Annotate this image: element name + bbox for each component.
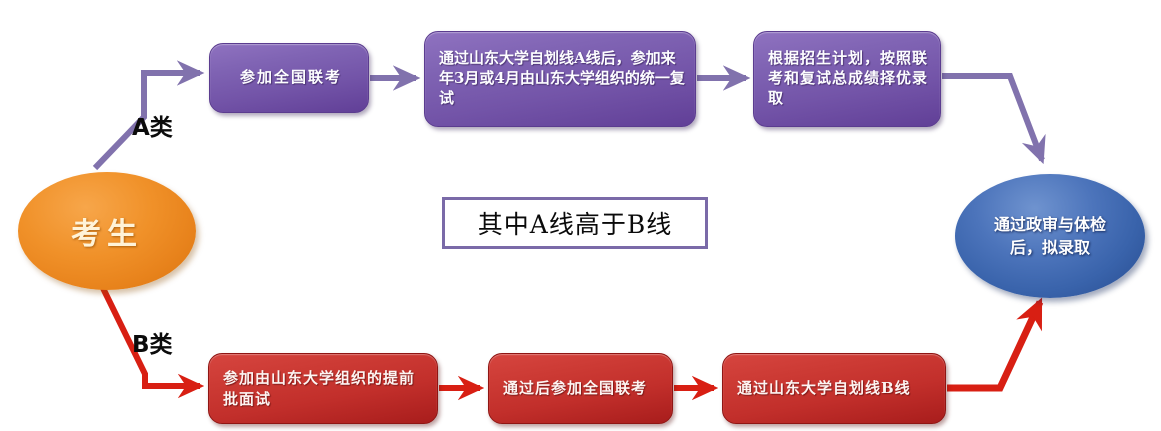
edge-a3-to-end [942, 76, 1042, 160]
node-a-step-2[interactable]: 通过山东大学自划线A线后，参加来年3月或4月由山东大学组织的统一复试 [424, 31, 696, 127]
edge-b3-to-end [947, 302, 1040, 388]
node-end-label: 通过政审与体检后，拟录取 [981, 213, 1119, 259]
node-a-step-1[interactable]: 参加全国联考 [209, 43, 369, 113]
node-a-step-3-label: 根据招生计划，按照联考和复试总成绩择优录取 [768, 49, 930, 108]
node-b-step-2[interactable]: 通过后参加全国联考 [488, 353, 673, 424]
node-b-step-1[interactable]: 参加由山东大学组织的提前批面试 [208, 353, 438, 424]
node-start-label: 考生 [18, 209, 196, 253]
node-a-step-3[interactable]: 根据招生计划，按照联考和复试总成绩择优录取 [753, 31, 941, 127]
note-line-comparison: 其中A线高于B线 [442, 197, 708, 249]
node-b-step-3[interactable]: 通过山东大学自划线B线 [722, 353, 946, 424]
node-a-step-2-label: 通过山东大学自划线A线后，参加来年3月或4月由山东大学组织的统一复试 [439, 49, 685, 108]
node-a-step-1-label: 参加全国联考 [224, 68, 358, 88]
node-b-step-2-label: 通过后参加全国联考 [503, 378, 662, 398]
branch-label-a: A类 [132, 108, 173, 142]
node-start-candidate[interactable]: 考生 [18, 172, 196, 290]
flowchart-canvas: 考生 A类 B类 参加全国联考 通过山东大学自划线A线后，参加来年3月或4月由山… [0, 0, 1161, 431]
note-label: 其中A线高于B线 [478, 205, 672, 241]
branch-label-b: B类 [132, 325, 173, 359]
node-end-admission[interactable]: 通过政审与体检后，拟录取 [955, 174, 1145, 298]
node-b-step-3-label: 通过山东大学自划线B线 [737, 378, 935, 398]
node-b-step-1-label: 参加由山东大学组织的提前批面试 [223, 368, 427, 408]
